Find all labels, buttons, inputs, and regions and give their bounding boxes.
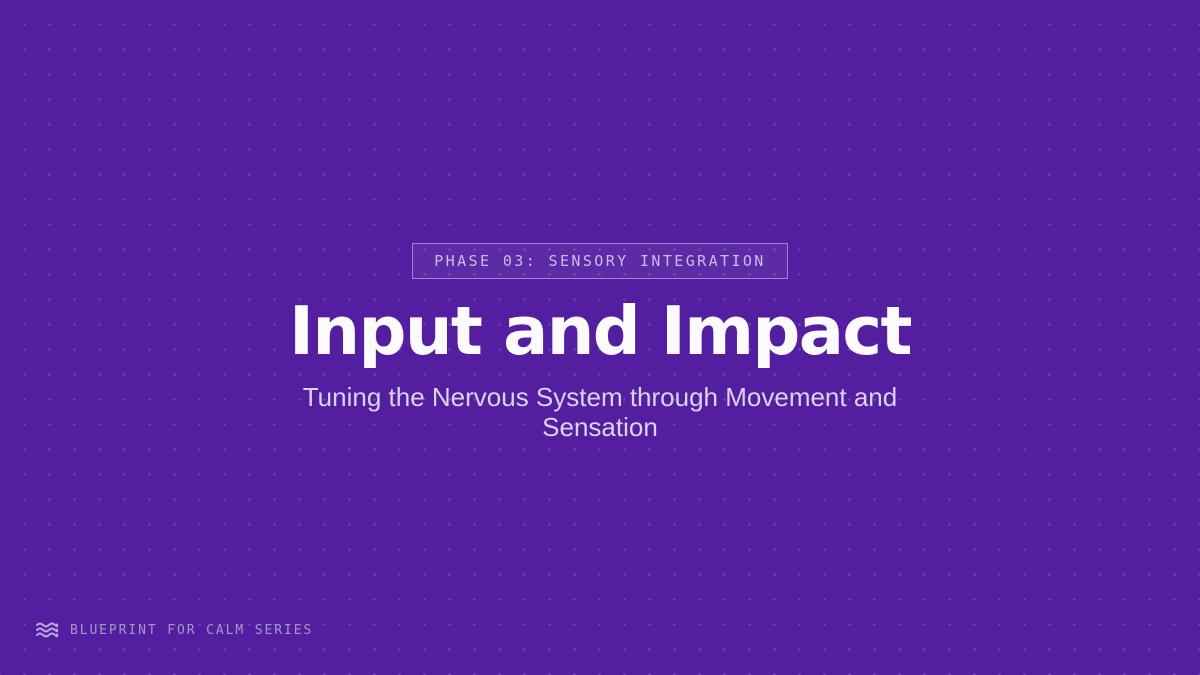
- slide-title: Input and Impact: [289, 279, 911, 365]
- footer-label: BLUEPRINT FOR CALM SERIES: [70, 624, 313, 637]
- phase-badge: PHASE 03: SENSORY INTEGRATION: [412, 243, 788, 279]
- slide-subtitle: Tuning the Nervous System through Moveme…: [280, 365, 920, 442]
- phase-badge-label: PHASE 03: SENSORY INTEGRATION: [434, 254, 766, 269]
- slide-center-content: PHASE 03: SENSORY INTEGRATION Input and …: [0, 243, 1200, 442]
- title-slide: PHASE 03: SENSORY INTEGRATION Input and …: [0, 0, 1200, 675]
- slide-footer: BLUEPRINT FOR CALM SERIES: [35, 618, 313, 642]
- waves-icon: [35, 618, 59, 642]
